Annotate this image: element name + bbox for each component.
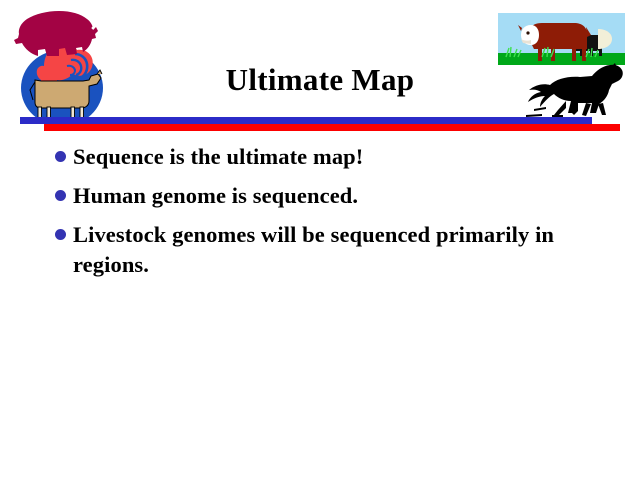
page-title: Ultimate Map bbox=[110, 62, 530, 98]
bullet-text: Sequence is the ultimate map! bbox=[73, 142, 363, 172]
pig-silhouette bbox=[14, 11, 98, 56]
bullet-list: Sequence is the ultimate map! Human geno… bbox=[55, 142, 575, 289]
livestock-emblem-image bbox=[5, 4, 115, 126]
bullet-text: Livestock genomes will be sequenced prim… bbox=[73, 220, 575, 280]
presentation-slide: Ultimate Map bbox=[0, 0, 640, 480]
galloping-horse-silhouette bbox=[516, 63, 628, 123]
bullet-dot-icon bbox=[55, 229, 66, 240]
bullet-dot-icon bbox=[55, 190, 66, 201]
hereford-cattle-photo bbox=[498, 13, 625, 65]
bullet-dot-icon bbox=[55, 151, 66, 162]
bullet-text: Human genome is sequenced. bbox=[73, 181, 358, 211]
list-item: Human genome is sequenced. bbox=[55, 181, 575, 211]
divider-bar-red bbox=[44, 124, 620, 131]
list-item: Livestock genomes will be sequenced prim… bbox=[55, 220, 575, 280]
list-item: Sequence is the ultimate map! bbox=[55, 142, 575, 172]
divider-bar-blue bbox=[20, 117, 592, 124]
